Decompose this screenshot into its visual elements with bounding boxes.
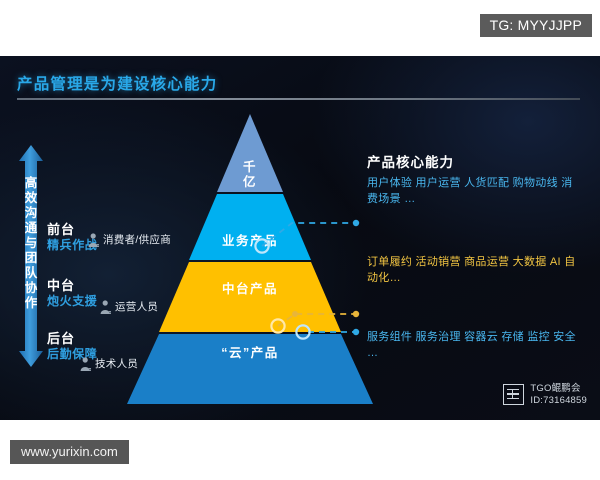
tgo-org-name: TGO鲲鹏会: [530, 383, 587, 395]
tgo-member-id: ID:73164859: [530, 395, 587, 407]
tgo-logo-text: TGO鲲鹏会 ID:73164859: [530, 383, 587, 406]
capability-text-business: 用户体验 用户运营 人货匹配 购物动线 消费场景 …: [367, 175, 582, 207]
site-watermark-badge: www.yurixin.com: [10, 440, 129, 464]
actor-label: 技术人员: [95, 356, 138, 371]
actor-row-engineering: 技术人员: [80, 356, 138, 371]
person-icon: [100, 300, 111, 314]
capabilities-heading: 产品核心能力: [367, 151, 454, 171]
presentation-slide: 产品管理是为建设核心能力 高 效 沟 通 与 团 队 协 作: [0, 56, 600, 420]
actor-label: 运营人员: [115, 299, 158, 314]
actor-row-operations: 运营人员: [100, 299, 158, 314]
role-title: 后台: [47, 331, 97, 347]
actor-row-consumer: 消费者/供应商: [88, 232, 171, 247]
person-icon: [88, 233, 99, 247]
tgo-mark-icon: [503, 384, 524, 405]
connector-bottom: [296, 325, 359, 338]
capability-text-cloud: 服务组件 服务治理 容器云 存储 监控 安全 …: [367, 329, 582, 361]
role-title: 中台: [47, 278, 97, 294]
telegram-watermark-badge: TG: MYYJJPP: [480, 14, 592, 37]
person-icon: [80, 357, 91, 371]
connector-middle: [271, 311, 359, 333]
screenshot-root: TG: MYYJJPP 产品管理是为建设核心能力 高 效 沟 通 与 团 队 协: [0, 0, 600, 480]
role-subtitle: 炮火支援: [47, 294, 97, 309]
role-block-middle: 中台 炮火支援: [47, 278, 97, 309]
tgo-logo-block: TGO鲲鹏会 ID:73164859: [503, 383, 587, 406]
connector-top: [255, 220, 359, 253]
capability-text-midplatform: 订单履约 活动销营 商品运营 大数据 AI 自动化…: [367, 254, 582, 286]
actor-label: 消费者/供应商: [103, 232, 171, 247]
